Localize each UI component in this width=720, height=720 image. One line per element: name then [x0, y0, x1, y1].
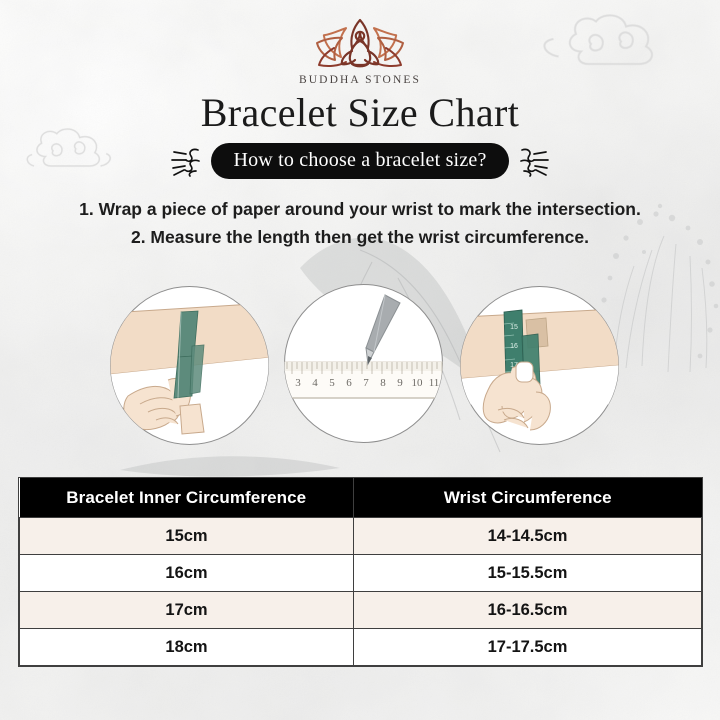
illustration-measure-with-ruler: 3456789101112: [282, 282, 445, 445]
column-header-bracelet-inner-circumference: Bracelet Inner Circumference: [20, 478, 354, 518]
flourish-ornament-left-icon: [168, 144, 202, 178]
instructions: 1. Wrap a piece of paper around your wri…: [0, 195, 720, 251]
ruler-tick-label: 3: [295, 377, 301, 389]
brand-wordmark: BUDDHA STONES: [0, 74, 720, 86]
forearm-with-paper-strip-icon: [108, 284, 271, 447]
lotus-meditation-icon: [312, 18, 408, 72]
bracelet-size-chart-page: BUDDHA STONES Bracelet Size Chart How to…: [0, 0, 720, 720]
cell-wrist-circumference: 16-16.5cm: [354, 592, 702, 629]
table-header-row: Bracelet Inner Circumference Wrist Circu…: [20, 478, 702, 518]
brand-logo: BUDDHA STONES: [0, 18, 720, 86]
flourish-ornament-right-icon: [518, 144, 552, 178]
ruler-and-pencil-icon: 3456789101112: [282, 282, 445, 445]
bracelet-size-table: Bracelet Inner Circumference Wrist Circu…: [19, 478, 702, 666]
cell-bracelet-inner-circumference: 16cm: [20, 555, 354, 592]
instruction-step-2: 2. Measure the length then get the wrist…: [0, 223, 720, 251]
ruler-tick-label: 10: [412, 377, 424, 389]
illustration-read-wrist-circumference: 151617: [458, 284, 621, 447]
cell-wrist-circumference: 14-14.5cm: [354, 518, 702, 555]
table-row: 17cm16-16.5cm: [20, 592, 702, 629]
table-row: 15cm14-14.5cm: [20, 518, 702, 555]
ruler-tick-label: 5: [329, 377, 335, 389]
table-row: 18cm17-17.5cm: [20, 629, 702, 666]
ruler-tick-label: 6: [346, 377, 352, 389]
illustration-row: 3456789101112: [0, 282, 720, 454]
hand-with-measuring-tape-icon: 151617: [458, 284, 621, 447]
tape-number-label: 16: [510, 343, 518, 350]
illustration-wrap-paper-around-wrist: [108, 284, 271, 447]
ruler-tick-label: 8: [380, 377, 386, 389]
subtitle-row: How to choose a bracelet size?: [0, 143, 720, 179]
instruction-step-1: 1. Wrap a piece of paper around your wri…: [0, 195, 720, 223]
ruler-tick-label: 4: [312, 377, 318, 389]
cell-wrist-circumference: 15-15.5cm: [354, 555, 702, 592]
table-row: 16cm15-15.5cm: [20, 555, 702, 592]
cell-bracelet-inner-circumference: 18cm: [20, 629, 354, 666]
how-to-choose-badge: How to choose a bracelet size?: [211, 143, 508, 179]
ruler-tick-label: 7: [363, 377, 369, 389]
column-header-wrist-circumference: Wrist Circumference: [354, 478, 702, 518]
cell-bracelet-inner-circumference: 17cm: [20, 592, 354, 629]
ruler-tick-label: 11: [429, 377, 440, 389]
cell-wrist-circumference: 17-17.5cm: [354, 629, 702, 666]
cell-bracelet-inner-circumference: 15cm: [20, 518, 354, 555]
ruler-tick-label: 9: [397, 377, 403, 389]
page-title: Bracelet Size Chart: [0, 91, 720, 135]
table-body: 15cm14-14.5cm16cm15-15.5cm17cm16-16.5cm1…: [20, 518, 702, 666]
tape-number-label: 15: [510, 324, 518, 331]
